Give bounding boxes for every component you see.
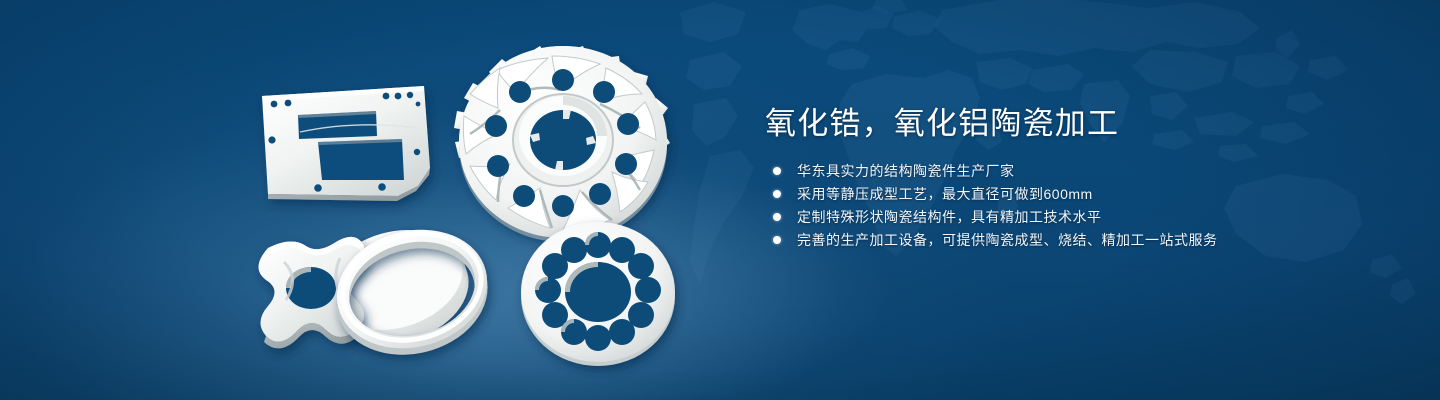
page-title: 氧化锆，氧化铝陶瓷加工 [765,104,1385,144]
white-ceramic-components-photo [0,0,740,400]
list-item: 定制特殊形状陶瓷结构件，具有精加工技术水平 [773,210,1385,225]
feature-text: 定制特殊形状陶瓷结构件，具有精加工技术水平 [797,209,1102,225]
list-item: 采用等静压成型工艺，最大直径可做到600mm [773,187,1385,202]
feature-text: 完善的生产加工设备，可提供陶瓷成型、烧结、精加工一站式服务 [797,232,1218,248]
ceramic-impeller [454,46,670,242]
promo-banner: 氧化锆，氧化铝陶瓷加工 华东具实力的结构陶瓷件生产厂家 采用等静压成型工艺，最大… [0,0,1440,400]
feature-text: 采用等静压成型工艺，最大直径可做到600mm [797,186,1093,202]
list-item: 华东具实力的结构陶瓷件生产厂家 [773,164,1385,179]
feature-list: 华东具实力的结构陶瓷件生产厂家 采用等静压成型工艺，最大直径可做到600mm 定… [773,164,1385,248]
banner-copy: 氧化锆，氧化铝陶瓷加工 华东具实力的结构陶瓷件生产厂家 采用等静压成型工艺，最大… [765,104,1385,256]
bullet-dot-icon [773,236,781,244]
ceramic-flat-plate [262,86,430,201]
list-item: 完善的生产加工设备，可提供陶瓷成型、烧结、精加工一站式服务 [773,233,1385,248]
bullet-dot-icon [773,167,781,175]
bullet-dot-icon [773,190,781,198]
feature-text: 华东具实力的结构陶瓷件生产厂家 [797,163,1015,179]
bullet-dot-icon [773,213,781,221]
ceramic-perforated-disc [521,222,675,366]
